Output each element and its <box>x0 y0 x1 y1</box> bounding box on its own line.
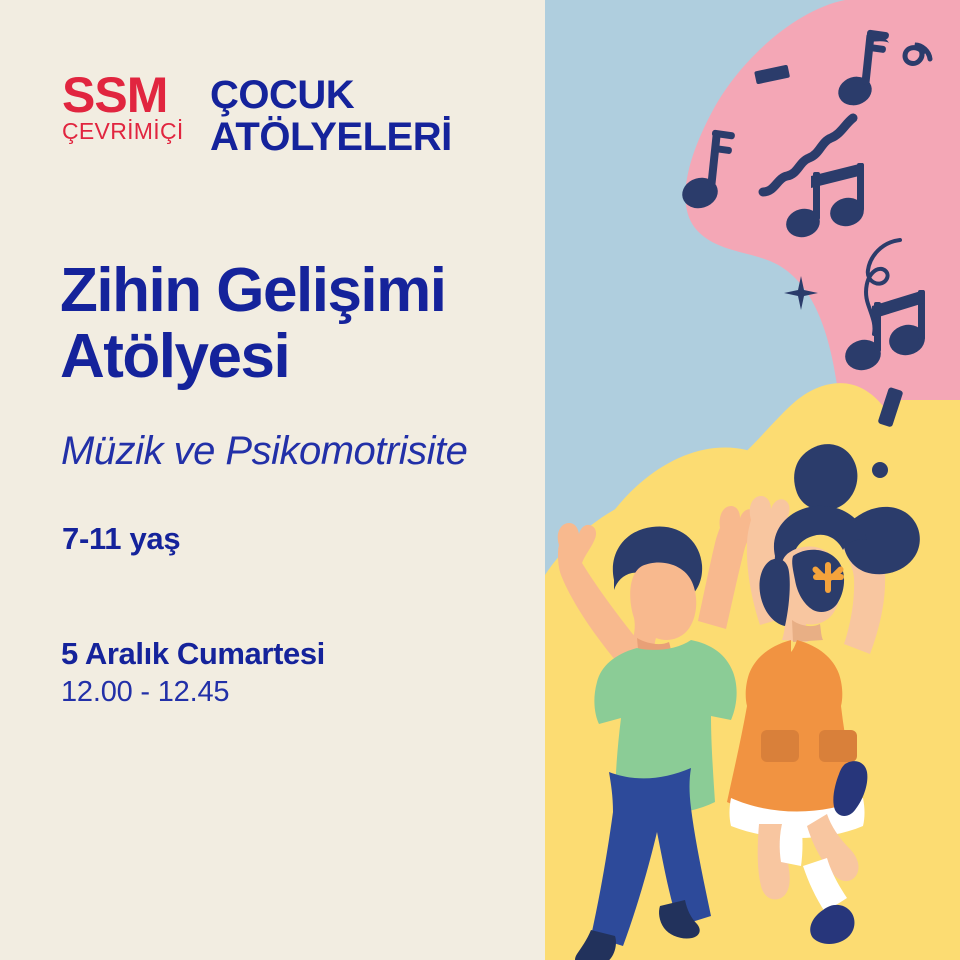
program-title: ÇOCUK ATÖLYELERİ <box>210 74 452 158</box>
headline-line-2: Atölyesi <box>60 324 540 390</box>
ssm-brand-name: SSM <box>62 72 212 118</box>
illustration-artwork <box>545 0 960 960</box>
event-time: 12.00 - 12.45 <box>61 673 325 711</box>
schedule-block: 5 Aralık Cumartesi 12.00 - 12.45 <box>61 635 325 711</box>
ssm-brand-subline: ÇEVRİMİÇİ <box>62 118 212 144</box>
girl-dress-pocket-right <box>819 730 857 762</box>
headline-line-1: Zihin Gelişimi <box>60 258 540 324</box>
age-range-label: 7-11 yaş <box>62 521 180 557</box>
event-date: 5 Aralık Cumartesi <box>61 635 325 673</box>
text-panel: SSM ÇEVRİMİÇİ ÇOCUK ATÖLYELERİ Zihin Gel… <box>0 0 545 960</box>
workshop-headline: Zihin Gelişimi Atölyesi <box>60 258 540 390</box>
ssm-logo-mark: SSM ÇEVRİMİÇİ <box>62 72 212 144</box>
ssm-logo: SSM ÇEVRİMİÇİ ÇOCUK ATÖLYELERİ <box>62 72 482 172</box>
program-title-line1: ÇOCUK <box>210 74 452 116</box>
workshop-subtitle: Müzik ve Psikomotrisite <box>61 428 467 474</box>
dot-mark-icon <box>872 462 888 478</box>
poster-canvas: SSM ÇEVRİMİÇİ ÇOCUK ATÖLYELERİ Zihin Gel… <box>0 0 960 960</box>
girl-dress-pocket-left <box>761 730 799 762</box>
illustration-panel <box>545 0 960 960</box>
program-title-line2: ATÖLYELERİ <box>210 116 452 158</box>
girl-shorts <box>780 820 803 866</box>
